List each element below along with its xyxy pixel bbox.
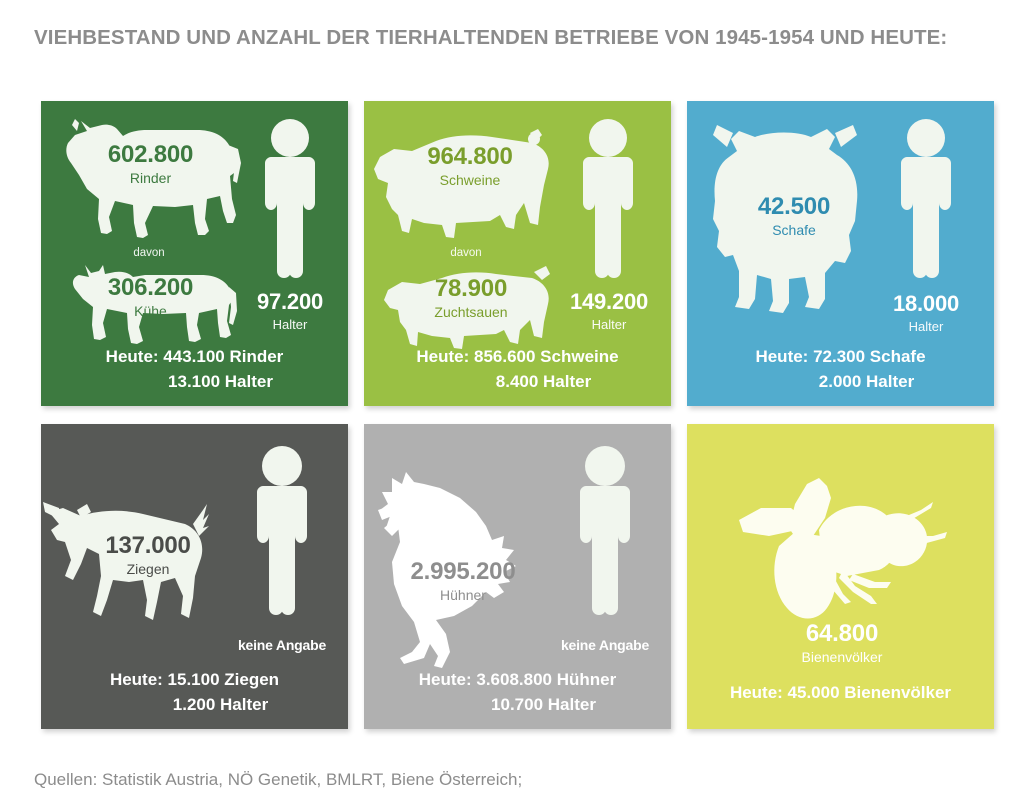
cattle-secondary-label: Kühe: [83, 304, 218, 318]
cattle-primary-label: Rinder: [83, 171, 218, 185]
pig-connector-label: davon: [416, 247, 516, 259]
goat-primary-label: Ziegen: [83, 562, 213, 576]
cattle-today-line2: 13.100 Halter: [41, 369, 348, 394]
cattle-holder-number: 97.200: [243, 291, 337, 313]
chicken-holder-stat: keine Angabe: [549, 638, 661, 652]
chicken-primary-number: 2.995.200: [388, 560, 538, 584]
goat-primary-stat: 137.000 Ziegen: [83, 534, 213, 576]
sheep-primary-label: Schafe: [729, 223, 859, 237]
pig-holder-label: Halter: [560, 318, 658, 331]
chicken-holder-number: keine Angabe: [549, 638, 661, 652]
person-icon-goat: [243, 446, 321, 616]
goat-holder-stat: keine Angabe: [226, 638, 338, 652]
card-pig-stage: 964.800 Schweine davon 78.900 Zuchtsauen: [364, 101, 671, 351]
sheep-holder-label: Halter: [879, 320, 973, 333]
pig-primary-stat: 964.800 Schweine: [400, 145, 540, 187]
chicken-primary-stat: 2.995.200 Hühner: [388, 560, 538, 602]
infographic-page: VIEHBESTAND UND ANZAHL DER TIERHALTENDEN…: [0, 0, 1024, 808]
card-chicken-stage: 2.995.200 Hühner keine Angabe: [364, 424, 671, 674]
sheep-today-line1: Heute: 72.300 Schafe: [687, 344, 994, 369]
card-goat-stage: 137.000 Ziegen keine Angabe: [41, 424, 348, 674]
pig-today-line2: 8.400 Halter: [364, 369, 671, 394]
goat-holder-number: keine Angabe: [226, 638, 338, 652]
chicken-today-footer: Heute: 3.608.800 Hühner 10.700 Halter: [364, 667, 671, 717]
bee-today-footer: Heute: 45.000 Bienenvölker: [687, 680, 994, 705]
pig-holder-stat: 149.200 Halter: [560, 291, 658, 331]
bee-today-line1: Heute: 45.000 Bienenvölker: [687, 680, 994, 705]
card-pig: 964.800 Schweine davon 78.900 Zuchtsauen: [364, 101, 671, 406]
card-sheep: 42.500 Schafe 18.000 Halter Heute: 72.30…: [687, 101, 994, 406]
chicken-primary-label: Hühner: [388, 588, 538, 602]
bee-primary-number: 64.800: [772, 622, 912, 646]
person-icon-pig: [569, 119, 647, 279]
sheep-holder-number: 18.000: [879, 293, 973, 315]
chicken-today-line1: Heute: 3.608.800 Hühner: [364, 667, 671, 692]
goat-today-footer: Heute: 15.100 Ziegen 1.200 Halter: [41, 667, 348, 717]
card-bee: 64.800 Bienenvölker Heute: 45.000 Bienen…: [687, 424, 994, 729]
bee-primary-label: Bienenvölker: [772, 650, 912, 664]
pig-holder-number: 149.200: [560, 291, 658, 313]
pig-today-footer: Heute: 856.600 Schweine 8.400 Halter: [364, 344, 671, 394]
sheep-today-footer: Heute: 72.300 Schafe 2.000 Halter: [687, 344, 994, 394]
pig-secondary-stat: 78.900 Zuchtsauen: [396, 277, 546, 319]
pig-secondary-label: Zuchtsauen: [396, 305, 546, 319]
cattle-today-footer: Heute: 443.100 Rinder 13.100 Halter: [41, 344, 348, 394]
cattle-secondary-stat: 306.200 Kühe: [83, 276, 218, 318]
goat-today-line2: 1.200 Halter: [41, 692, 348, 717]
card-bee-stage: 64.800 Bienenvölker: [687, 424, 994, 674]
cattle-today-line1: Heute: 443.100 Rinder: [41, 344, 348, 369]
goat-primary-number: 137.000: [83, 534, 213, 558]
person-icon-cattle: [251, 119, 329, 279]
sources-line: Quellen: Statistik Austria, NÖ Genetik, …: [34, 770, 522, 790]
cattle-secondary-number: 306.200: [83, 276, 218, 300]
cattle-primary-number: 602.800: [83, 143, 218, 167]
cattle-holder-stat: 97.200 Halter: [243, 291, 337, 331]
goat-today-line1: Heute: 15.100 Ziegen: [41, 667, 348, 692]
person-icon-sheep: [887, 119, 965, 279]
card-cattle-stage: 602.800 Rinder davon 306.200 Kühe: [41, 101, 348, 351]
card-sheep-stage: 42.500 Schafe 18.000 Halter: [687, 101, 994, 351]
pig-today-line1: Heute: 856.600 Schweine: [364, 344, 671, 369]
person-icon-chicken: [566, 446, 644, 616]
page-title: VIEHBESTAND UND ANZAHL DER TIERHALTENDEN…: [34, 22, 994, 53]
card-cattle: 602.800 Rinder davon 306.200 Kühe: [41, 101, 348, 406]
pig-primary-label: Schweine: [400, 173, 540, 187]
card-chicken: 2.995.200 Hühner keine Angabe Heute: 3.6…: [364, 424, 671, 729]
sheep-primary-number: 42.500: [729, 195, 859, 219]
sheep-holder-stat: 18.000 Halter: [879, 293, 973, 333]
cattle-holder-label: Halter: [243, 318, 337, 331]
sheep-primary-stat: 42.500 Schafe: [729, 195, 859, 237]
card-grid: 602.800 Rinder davon 306.200 Kühe: [41, 101, 994, 729]
bee-icon: [735, 474, 950, 624]
pig-secondary-number: 78.900: [396, 277, 546, 301]
cattle-primary-stat: 602.800 Rinder: [83, 143, 218, 185]
chicken-today-line2: 10.700 Halter: [364, 692, 671, 717]
bee-primary-stat: 64.800 Bienenvölker: [772, 622, 912, 664]
cattle-connector-label: davon: [99, 247, 199, 259]
sheep-today-line2: 2.000 Halter: [687, 369, 994, 394]
card-goat: 137.000 Ziegen keine Angabe Heute: 15.10…: [41, 424, 348, 729]
pig-primary-number: 964.800: [400, 145, 540, 169]
